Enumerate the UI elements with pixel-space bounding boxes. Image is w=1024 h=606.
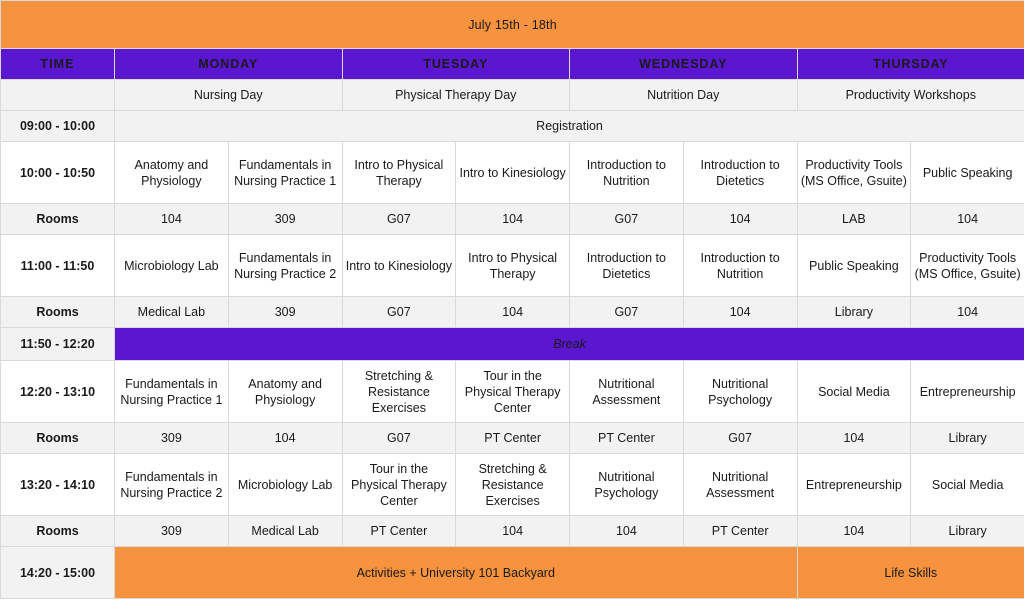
rooms-row-2: Rooms Medical Lab 309 G07 104 G07 104 Li… [1, 297, 1024, 328]
track-row: Nursing Day Physical Therapy Day Nutriti… [1, 80, 1024, 111]
session-cell: Intro to Physical Therapy [456, 235, 570, 297]
room-cell: 104 [228, 423, 342, 454]
time-footer: 14:20 - 15:00 [1, 547, 115, 599]
session-cell: Introduction to Dietetics [570, 235, 684, 297]
room-cell: 104 [911, 297, 1024, 328]
room-cell: 309 [115, 423, 229, 454]
header-day-wednesday: WEDNESDAY [570, 49, 798, 80]
track-physical-therapy-day: Physical Therapy Day [342, 80, 570, 111]
header-day-thursday: THURSDAY [797, 49, 1024, 80]
day-header-row: TIME MONDAY TUESDAY WEDNESDAY THURSDAY [1, 49, 1024, 80]
session-cell: Fundamentals in Nursing Practice 1 [228, 142, 342, 204]
session-cell: Fundamentals in Nursing Practice 2 [228, 235, 342, 297]
rooms-label: Rooms [1, 204, 115, 235]
registration-label: Registration [115, 111, 1024, 142]
track-productivity-workshops: Productivity Workshops [797, 80, 1024, 111]
session-cell: Anatomy and Physiology [228, 361, 342, 423]
session-cell: Fundamentals in Nursing Practice 2 [115, 454, 229, 516]
session-cell: Intro to Kinesiology [456, 142, 570, 204]
room-cell: G07 [570, 297, 684, 328]
session-cell: Nutritional Assessment [570, 361, 684, 423]
session-cell: Entrepreneurship [797, 454, 911, 516]
room-cell: 104 [911, 204, 1024, 235]
session-row-2: 11:00 - 11:50 Microbiology Lab Fundament… [1, 235, 1024, 297]
session-cell: Stretching & Resistance Exercises [342, 361, 456, 423]
room-cell: Medical Lab [228, 516, 342, 547]
activities-cell: Activities + University 101 Backyard [115, 547, 798, 599]
session-cell: Public Speaking [797, 235, 911, 297]
track-nutrition-day: Nutrition Day [570, 80, 798, 111]
room-cell: 104 [456, 204, 570, 235]
session-cell: Microbiology Lab [228, 454, 342, 516]
registration-row: 09:00 - 10:00 Registration [1, 111, 1024, 142]
room-cell: 104 [683, 297, 797, 328]
page-title: July 15th - 18th [1, 1, 1024, 49]
room-cell: PT Center [342, 516, 456, 547]
rooms-label: Rooms [1, 516, 115, 547]
room-cell: PT Center [683, 516, 797, 547]
session-cell: Nutritional Assessment [683, 454, 797, 516]
session-cell: Introduction to Nutrition [570, 142, 684, 204]
rooms-row-3: Rooms 309 104 G07 PT Center PT Center G0… [1, 423, 1024, 454]
rooms-row-1: Rooms 104 309 G07 104 G07 104 LAB 104 [1, 204, 1024, 235]
session-cell: Entrepreneurship [911, 361, 1024, 423]
room-cell: G07 [342, 297, 456, 328]
room-cell: 104 [570, 516, 684, 547]
rooms-row-4: Rooms 309 Medical Lab PT Center 104 104 … [1, 516, 1024, 547]
room-cell: Library [911, 423, 1024, 454]
room-cell: 104 [797, 516, 911, 547]
rooms-label: Rooms [1, 297, 115, 328]
time-slot-4: 13:20 - 14:10 [1, 454, 115, 516]
time-break: 11:50 - 12:20 [1, 328, 115, 361]
session-cell: Microbiology Lab [115, 235, 229, 297]
schedule-sheet: July 15th - 18th TIME MONDAY TUESDAY WED… [0, 0, 1024, 606]
room-cell: 309 [228, 297, 342, 328]
room-cell: 309 [228, 204, 342, 235]
time-slot-1: 10:00 - 10:50 [1, 142, 115, 204]
session-cell: Productivity Tools (MS Office, Gsuite) [911, 235, 1024, 297]
header-day-tuesday: TUESDAY [342, 49, 570, 80]
room-cell: Medical Lab [115, 297, 229, 328]
time-slot-3: 12:20 - 13:10 [1, 361, 115, 423]
room-cell: 104 [115, 204, 229, 235]
room-cell: Library [797, 297, 911, 328]
break-label: Break [115, 328, 1024, 361]
track-time-blank [1, 80, 115, 111]
room-cell: PT Center [456, 423, 570, 454]
session-cell: Introduction to Dietetics [683, 142, 797, 204]
session-cell: Social Media [797, 361, 911, 423]
life-skills-cell: Life Skills [797, 547, 1024, 599]
session-row-1: 10:00 - 10:50 Anatomy and Physiology Fun… [1, 142, 1024, 204]
room-cell: Library [911, 516, 1024, 547]
rooms-label: Rooms [1, 423, 115, 454]
session-cell: Social Media [911, 454, 1024, 516]
room-cell: LAB [797, 204, 911, 235]
room-cell: 104 [456, 297, 570, 328]
session-cell: Stretching & Resistance Exercises [456, 454, 570, 516]
session-cell: Intro to Kinesiology [342, 235, 456, 297]
footer-row: 14:20 - 15:00 Activities + University 10… [1, 547, 1024, 599]
room-cell: 104 [683, 204, 797, 235]
session-cell: Introduction to Nutrition [683, 235, 797, 297]
room-cell: G07 [683, 423, 797, 454]
session-cell: Productivity Tools (MS Office, Gsuite) [797, 142, 911, 204]
session-cell: Nutritional Psychology [570, 454, 684, 516]
room-cell: G07 [342, 423, 456, 454]
session-cell: Fundamentals in Nursing Practice 1 [115, 361, 229, 423]
session-cell: Public Speaking [911, 142, 1024, 204]
time-slot-2: 11:00 - 11:50 [1, 235, 115, 297]
session-cell: Tour in the Physical Therapy Center [342, 454, 456, 516]
time-registration: 09:00 - 10:00 [1, 111, 115, 142]
room-cell: 104 [797, 423, 911, 454]
session-cell: Intro to Physical Therapy [342, 142, 456, 204]
header-day-monday: MONDAY [115, 49, 343, 80]
room-cell: 104 [456, 516, 570, 547]
break-row: 11:50 - 12:20 Break [1, 328, 1024, 361]
room-cell: 309 [115, 516, 229, 547]
room-cell: G07 [570, 204, 684, 235]
header-time: TIME [1, 49, 115, 80]
schedule-table: July 15th - 18th TIME MONDAY TUESDAY WED… [0, 0, 1024, 599]
session-cell: Anatomy and Physiology [115, 142, 229, 204]
title-row: July 15th - 18th [1, 1, 1024, 49]
room-cell: G07 [342, 204, 456, 235]
track-nursing-day: Nursing Day [115, 80, 343, 111]
room-cell: PT Center [570, 423, 684, 454]
session-row-4: 13:20 - 14:10 Fundamentals in Nursing Pr… [1, 454, 1024, 516]
session-cell: Nutritional Psychology [683, 361, 797, 423]
session-row-3: 12:20 - 13:10 Fundamentals in Nursing Pr… [1, 361, 1024, 423]
session-cell: Tour in the Physical Therapy Center [456, 361, 570, 423]
